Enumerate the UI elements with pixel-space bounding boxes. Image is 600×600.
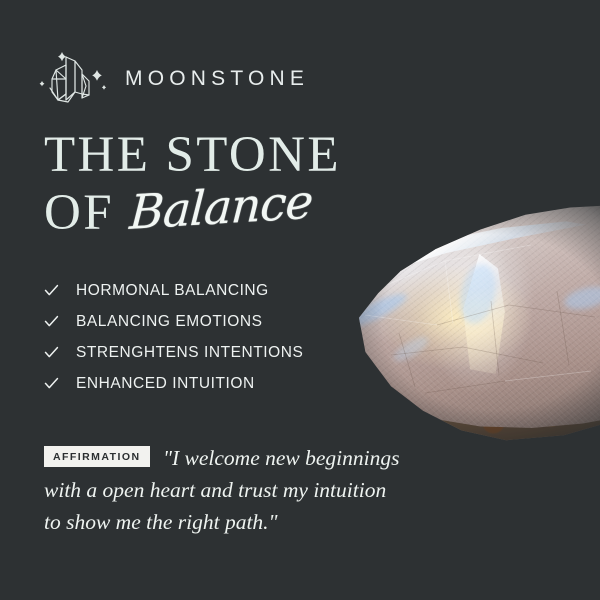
headline-script-word: Balance [128,175,314,241]
crystal-flash [562,283,600,314]
affirmation-line-2: with a open heart and trust my intuition [44,475,474,506]
status-badge: AFFIRMATION [44,446,150,467]
crystal-flash [390,333,431,366]
list-item: ENHANCED INTUITION [44,368,303,399]
affirmation-block: AFFIRMATION "I welcome new beginnings wi… [44,443,474,538]
crystal-flash [456,261,502,327]
list-item: HORMONAL BALANCING [44,275,303,306]
check-icon [44,283,59,298]
affirmation-first-line: AFFIRMATION "I welcome new beginnings [44,443,474,474]
brand-name: MOONSTONE [125,67,309,91]
page-title: THE STONE OF Balance [44,128,341,242]
check-icon [44,345,59,360]
crystal-flash [340,288,410,333]
crystal-rim-highlight [337,220,587,303]
crystal-terminated-point [455,254,513,374]
headline-line-1: THE STONE [44,128,341,182]
benefit-label: STRENGHTENS INTENTIONS [76,344,303,362]
moonstone-promo-card: MOONSTONE THE STONE OF Balance HORMONAL … [0,0,600,600]
benefit-label: ENHANCED INTUITION [76,375,255,393]
affirmation-line-1: "I welcome new beginnings [163,446,400,470]
crystal-rough-matrix-edge [295,377,600,451]
check-icon [44,314,59,329]
benefit-label: HORMONAL BALANCING [76,282,269,300]
affirmation-line-3: to show me the right path." [44,507,474,538]
list-item: STRENGHTENS INTENTIONS [44,337,303,368]
headline-line-2: OF Balance [44,184,341,242]
benefit-label: BALANCING EMOTIONS [76,313,262,331]
list-item: BALANCING EMOTIONS [44,306,303,337]
crystal-cluster-icon [34,48,108,110]
brand-lockup: MOONSTONE [34,48,309,110]
check-icon [44,376,59,391]
headline-of: OF [44,184,114,242]
benefits-list: HORMONAL BALANCING BALANCING EMOTIONS ST… [44,275,303,399]
